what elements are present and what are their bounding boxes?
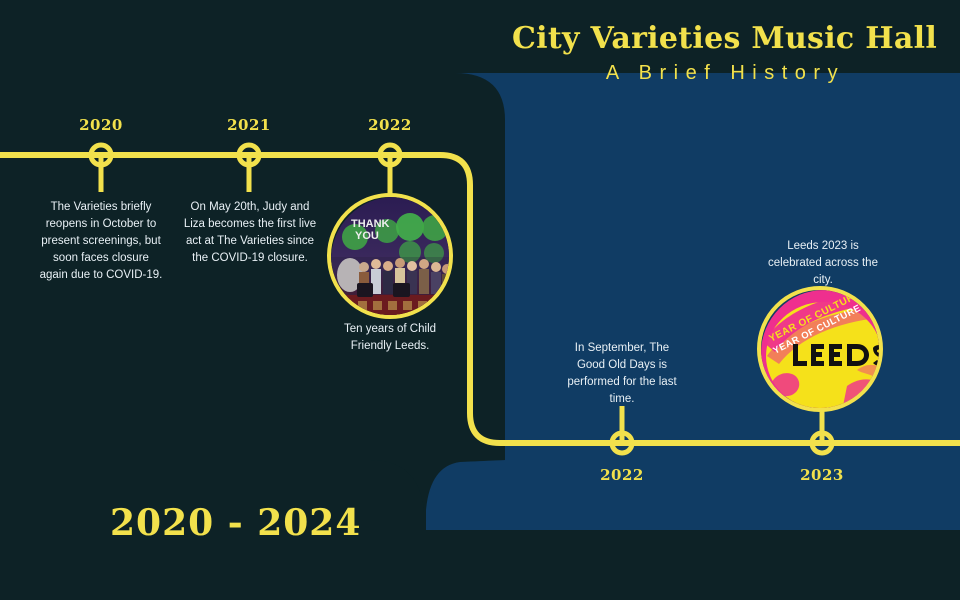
svg-text:YOU: YOU <box>355 230 379 242</box>
year-label-2023: 2023 <box>800 466 844 484</box>
photo-leeds-2023[interactable]: YEAR OF CULTURE YEAR OF CULTURE <box>757 286 883 412</box>
event-text-2020: The Varieties briefly reopens in October… <box>39 199 163 284</box>
caption-2022-child-friendly: Ten years of Child Friendly Leeds. <box>330 321 450 355</box>
photo-thank-you-stage[interactable]: THANK YOU <box>327 193 453 319</box>
year-label-2021: 2021 <box>227 116 271 134</box>
svg-text:THANK: THANK <box>351 218 390 230</box>
year-label-2020: 2020 <box>79 116 123 134</box>
event-text-2021: On May 20th, Judy and Liza becomes the f… <box>183 199 318 267</box>
timeline-infographic: City Varieties Music Hall A Brief Histor… <box>0 0 960 600</box>
event-text-2023: Leeds 2023 is celebrated across the city… <box>761 238 885 289</box>
footer-year-range: 2020 - 2024 <box>110 502 361 544</box>
year-label-2022-lower: 2022 <box>600 466 644 484</box>
event-text-2022-lower: In September, The Good Old Days is perfo… <box>563 340 681 408</box>
year-label-2022-upper: 2022 <box>368 116 412 134</box>
